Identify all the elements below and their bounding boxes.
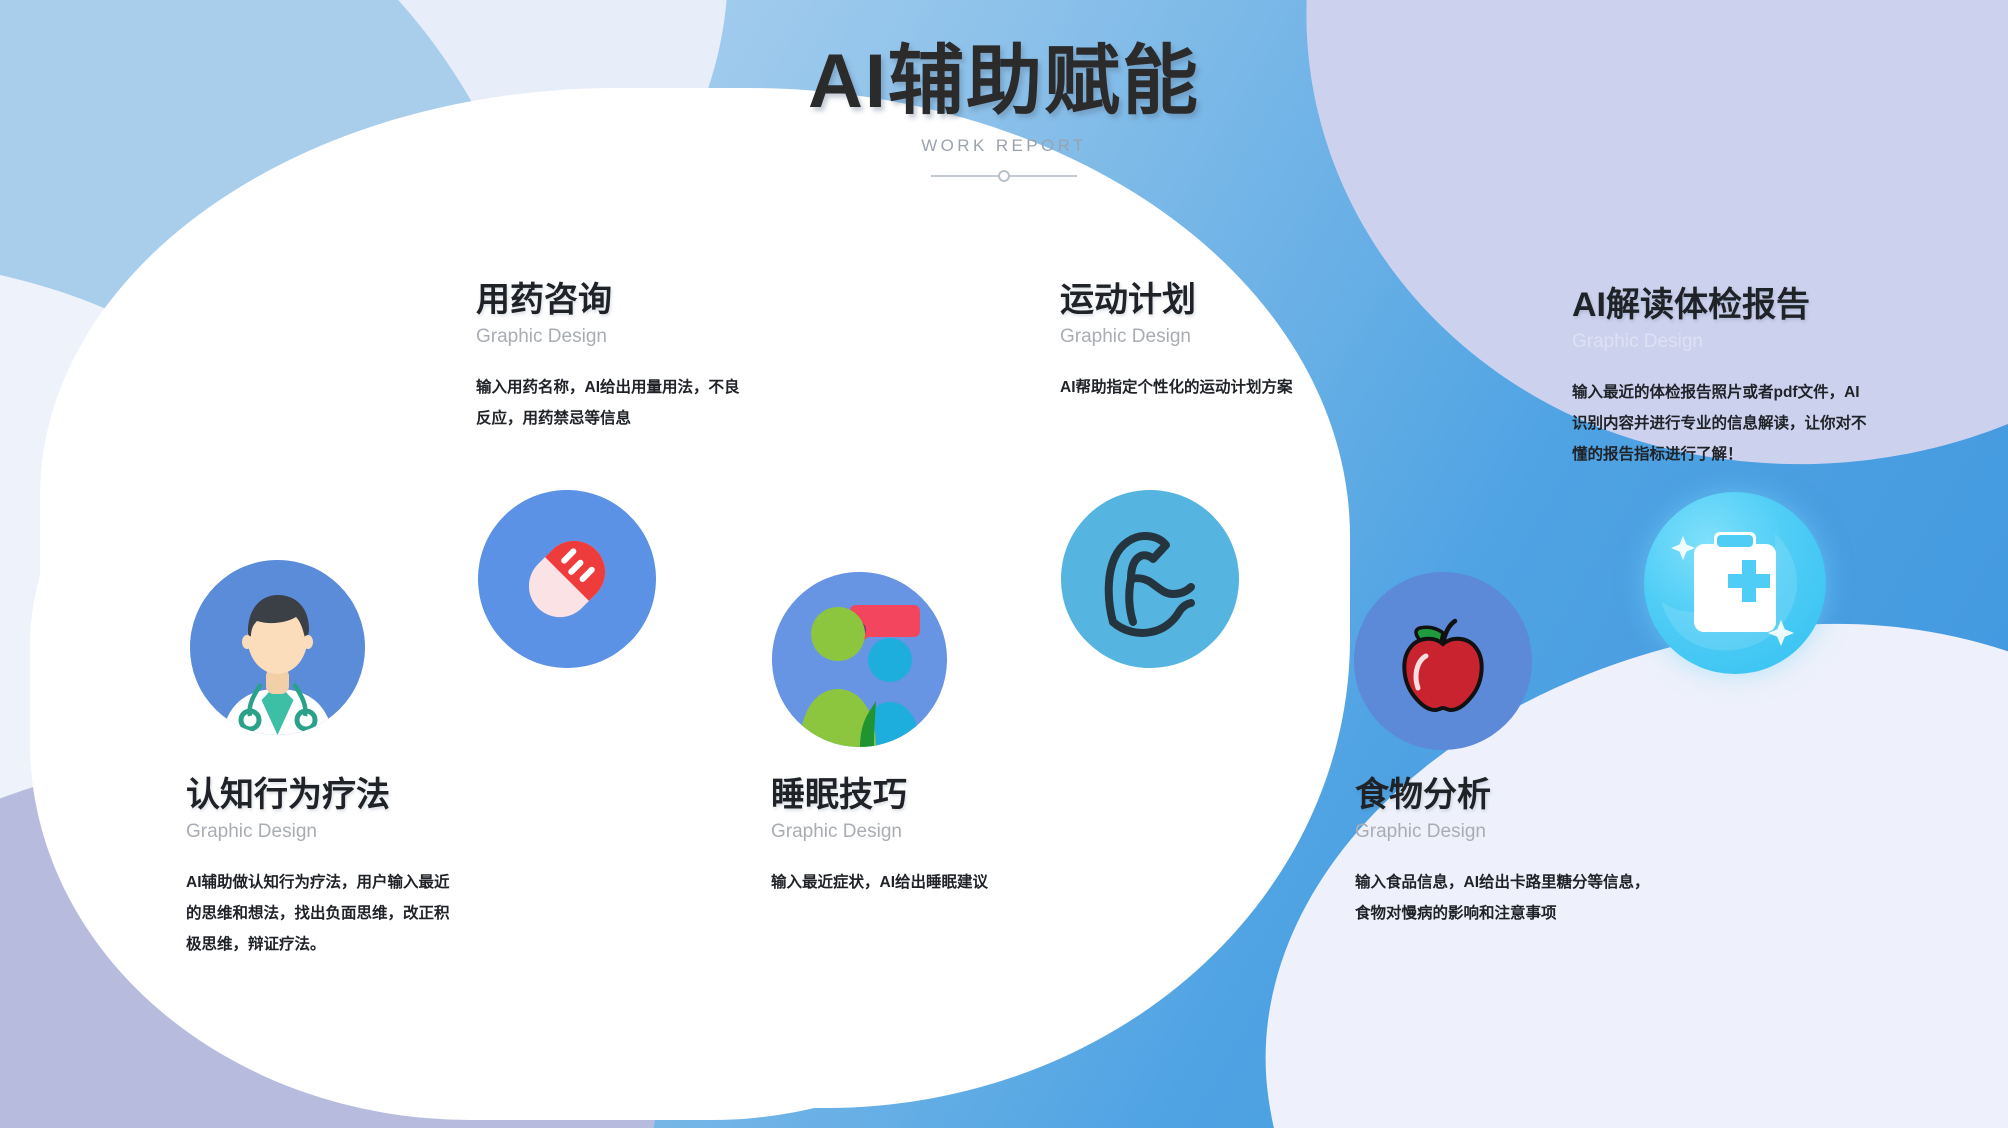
item-medication-subtitle: Graphic Design — [476, 326, 748, 348]
item-food-title: 食物分析 — [1355, 775, 1655, 816]
item-sleep-title: 睡眠技巧 — [771, 775, 988, 816]
item-exercise-subtitle: Graphic Design — [1060, 326, 1293, 348]
medical-clipboard-icon[interactable] — [1644, 492, 1826, 674]
item-food[interactable]: 食物分析 Graphic Design 输入食品信息，AI给出卡路里糖分等信息，… — [1355, 775, 1655, 929]
pill-icon[interactable] — [478, 490, 656, 668]
item-cbt[interactable]: 认知行为疗法 Graphic Design AI辅助做认知行为疗法，用户输入最近… — [186, 775, 458, 960]
people-talking-icon[interactable] — [772, 572, 947, 747]
item-report-title: AI解读体检报告 — [1572, 285, 1872, 326]
item-food-description: 输入食品信息，AI给出卡路里糖分等信息，食物对慢病的影响和注意事项 — [1355, 867, 1655, 929]
item-cbt-title: 认知行为疗法 — [186, 775, 458, 816]
divider-node-icon — [998, 170, 1010, 182]
item-sleep[interactable]: 睡眠技巧 Graphic Design 输入最近症状，AI给出睡眠建议 — [771, 775, 988, 898]
item-medication-title: 用药咨询 — [476, 280, 748, 321]
slide-header: AI辅助赋能 WORK REPORT — [0, 42, 2008, 182]
item-exercise-description: AI帮助指定个性化的运动计划方案 — [1060, 372, 1293, 403]
item-sleep-subtitle: Graphic Design — [771, 821, 988, 843]
item-sleep-description: 输入最近症状，AI给出睡眠建议 — [771, 867, 988, 898]
title-divider — [931, 170, 1077, 182]
item-medication-description: 输入用药名称，AI给出用量用法，不良反应，用药禁忌等信息 — [476, 372, 748, 434]
item-food-subtitle: Graphic Design — [1355, 821, 1655, 843]
apple-icon[interactable] — [1354, 572, 1532, 750]
page-subtitle: WORK REPORT — [0, 136, 2008, 156]
item-report-subtitle: Graphic Design — [1572, 331, 1872, 353]
slide-canvas: AI辅助赋能 WORK REPORT — [0, 0, 2008, 1128]
doctor-icon[interactable] — [190, 560, 365, 735]
item-report-description: 输入最近的体检报告照片或者pdf文件，AI识别内容并进行专业的信息解读，让你对不… — [1572, 377, 1872, 470]
item-cbt-subtitle: Graphic Design — [186, 821, 458, 843]
page-title: AI辅助赋能 — [0, 42, 2008, 122]
item-exercise[interactable]: 运动计划 Graphic Design AI帮助指定个性化的运动计划方案 — [1060, 280, 1293, 403]
item-medication[interactable]: 用药咨询 Graphic Design 输入用药名称，AI给出用量用法，不良反应… — [476, 280, 748, 434]
item-report[interactable]: AI解读体检报告 Graphic Design 输入最近的体检报告照片或者pdf… — [1572, 285, 1872, 470]
muscle-icon[interactable] — [1061, 490, 1239, 668]
item-cbt-description: AI辅助做认知行为疗法，用户输入最近的思维和想法，找出负面思维，改正积极思维，辩… — [186, 867, 458, 960]
item-exercise-title: 运动计划 — [1060, 280, 1293, 321]
